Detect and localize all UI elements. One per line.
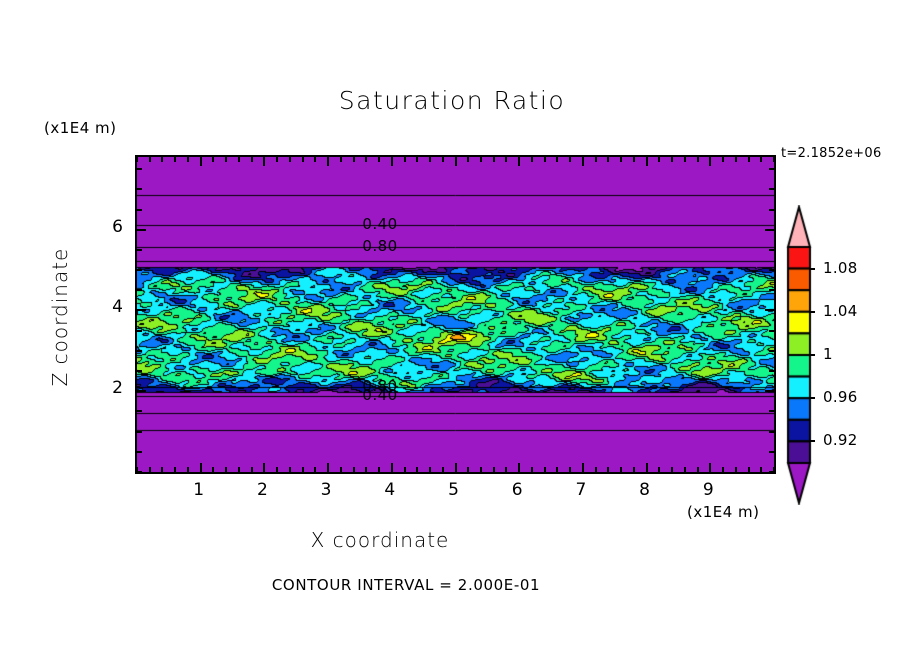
figure-canvas: Saturation Ratio (x1E4 m) (x1E4 m) t=2.1… xyxy=(0,0,904,654)
x-axis-minor-tick xyxy=(722,467,724,472)
x-axis-minor-tick xyxy=(773,157,775,162)
x-axis-minor-tick xyxy=(442,467,444,472)
x-axis-minor-tick xyxy=(365,157,367,162)
colorbar-tick-mark xyxy=(810,440,815,442)
y-axis-major-tick xyxy=(137,229,146,231)
x-axis-minor-tick xyxy=(442,157,444,162)
x-axis-minor-tick xyxy=(251,157,253,162)
y-axis-minor-tick xyxy=(137,168,142,170)
colorbar-tick-mark xyxy=(810,354,815,356)
x-axis-major-tick xyxy=(391,157,393,166)
x-axis-minor-tick xyxy=(429,157,431,162)
x-axis-minor-tick xyxy=(722,157,724,162)
x-axis-minor-tick xyxy=(276,467,278,472)
x-axis-major-tick xyxy=(327,463,329,472)
contour-value-label: 0.40 xyxy=(362,386,397,404)
page-title: Saturation Ratio xyxy=(0,86,904,115)
x-axis-minor-tick xyxy=(595,467,597,472)
x-axis-minor-tick xyxy=(302,157,304,162)
x-tick-label: 2 xyxy=(247,480,277,500)
x-axis-minor-tick xyxy=(212,157,214,162)
x-axis-minor-tick xyxy=(748,467,750,472)
y-axis-minor-tick xyxy=(769,471,774,473)
y-axis-minor-tick xyxy=(137,289,142,291)
x-axis-minor-tick xyxy=(251,467,253,472)
x-axis-minor-tick xyxy=(569,157,571,162)
x-tick-label: 4 xyxy=(375,480,405,500)
x-axis-major-tick xyxy=(518,157,520,166)
y-tick-label: 6 xyxy=(93,217,123,237)
x-axis-minor-tick xyxy=(735,157,737,162)
x-axis-minor-tick xyxy=(314,157,316,162)
x-axis-minor-tick xyxy=(353,157,355,162)
x-axis-major-tick xyxy=(518,463,520,472)
x-axis-title: X coordinate xyxy=(0,528,760,552)
x-tick-label: 1 xyxy=(184,480,214,500)
y-axis-title: Z coordinate xyxy=(48,227,72,407)
x-axis-minor-tick xyxy=(684,157,686,162)
x-axis-minor-tick xyxy=(187,157,189,162)
x-axis-minor-tick xyxy=(161,467,163,472)
x-axis-minor-tick xyxy=(633,157,635,162)
y-axis-major-tick xyxy=(765,390,774,392)
x-axis-minor-tick xyxy=(289,157,291,162)
x-axis-minor-tick xyxy=(314,467,316,472)
y-axis-minor-tick xyxy=(137,410,142,412)
x-axis-minor-tick xyxy=(480,467,482,472)
x-axis-minor-tick xyxy=(748,157,750,162)
y-axis-minor-tick xyxy=(769,350,774,352)
x-axis-minor-tick xyxy=(556,157,558,162)
x-axis-major-tick xyxy=(709,157,711,166)
x-axis-minor-tick xyxy=(760,467,762,472)
y-axis-minor-tick xyxy=(137,350,142,352)
x-axis-minor-tick xyxy=(607,157,609,162)
x-axis-minor-tick xyxy=(531,157,533,162)
colorbar-tick-label: 1 xyxy=(823,345,833,363)
x-tick-label: 3 xyxy=(311,480,341,500)
y-axis-minor-tick xyxy=(137,431,142,433)
contour-interval-label: CONTOUR INTERVAL = 2.000E-01 xyxy=(0,576,812,594)
x-axis-minor-tick xyxy=(174,467,176,472)
x-axis-minor-tick xyxy=(493,467,495,472)
x-axis-minor-tick xyxy=(404,157,406,162)
x-axis-minor-tick xyxy=(658,467,660,472)
x-axis-minor-tick xyxy=(735,467,737,472)
contour-value-label: 0.40 xyxy=(362,215,397,233)
x-axis-minor-tick xyxy=(302,467,304,472)
x-axis-major-tick xyxy=(455,463,457,472)
time-stamp-label: t=2.1852e+06 xyxy=(781,146,882,161)
y-axis-minor-tick xyxy=(769,431,774,433)
x-axis-minor-tick xyxy=(595,157,597,162)
x-axis-major-tick xyxy=(263,463,265,472)
x-axis-minor-tick xyxy=(340,467,342,472)
colorbar-tick-label: 1.04 xyxy=(823,302,858,320)
y-axis-minor-tick xyxy=(769,330,774,332)
y-axis-minor-tick xyxy=(137,188,142,190)
x-axis-minor-tick xyxy=(225,467,227,472)
x-tick-label: 7 xyxy=(566,480,596,500)
x-axis-minor-tick xyxy=(225,157,227,162)
x-axis-minor-tick xyxy=(544,467,546,472)
colorbar-tick-label: 0.96 xyxy=(823,388,858,406)
y-axis-major-tick xyxy=(137,309,146,311)
y-axis-minor-tick xyxy=(137,451,142,453)
x-axis-minor-tick xyxy=(607,467,609,472)
y-axis-minor-tick xyxy=(769,168,774,170)
x-axis-minor-tick xyxy=(467,467,469,472)
colorbar-tick-label: 1.08 xyxy=(823,259,858,277)
x-axis-minor-tick xyxy=(187,467,189,472)
x-axis-minor-tick xyxy=(289,467,291,472)
x-axis-minor-tick xyxy=(404,467,406,472)
x-axis-unit-label: (x1E4 m) xyxy=(687,503,760,521)
x-axis-minor-tick xyxy=(531,467,533,472)
y-axis-minor-tick xyxy=(769,289,774,291)
y-axis-minor-tick xyxy=(769,249,774,251)
y-axis-major-tick xyxy=(137,390,146,392)
plot-area: 0.400.800.800.40 xyxy=(135,155,776,474)
x-axis-minor-tick xyxy=(238,467,240,472)
x-axis-major-tick xyxy=(646,463,648,472)
x-axis-minor-tick xyxy=(174,157,176,162)
y-axis-minor-tick xyxy=(137,269,142,271)
x-axis-minor-tick xyxy=(467,157,469,162)
x-axis-minor-tick xyxy=(149,467,151,472)
y-axis-minor-tick xyxy=(769,451,774,453)
x-axis-minor-tick xyxy=(760,157,762,162)
y-axis-minor-tick xyxy=(769,188,774,190)
x-tick-label: 5 xyxy=(439,480,469,500)
x-axis-major-tick xyxy=(455,157,457,166)
x-axis-minor-tick xyxy=(671,467,673,472)
x-axis-minor-tick xyxy=(671,157,673,162)
x-axis-minor-tick xyxy=(378,157,380,162)
x-axis-major-tick xyxy=(200,463,202,472)
y-axis-major-tick xyxy=(765,309,774,311)
y-axis-minor-tick xyxy=(137,209,142,211)
x-axis-major-tick xyxy=(263,157,265,166)
y-axis-minor-tick xyxy=(137,330,142,332)
y-axis-minor-tick xyxy=(137,249,142,251)
x-axis-minor-tick xyxy=(416,157,418,162)
x-axis-minor-tick xyxy=(620,157,622,162)
x-axis-minor-tick xyxy=(569,467,571,472)
y-tick-label: 4 xyxy=(93,297,123,317)
x-axis-minor-tick xyxy=(378,467,380,472)
x-axis-major-tick xyxy=(646,157,648,166)
contour-field xyxy=(137,157,774,472)
x-axis-major-tick xyxy=(582,157,584,166)
y-tick-label: 2 xyxy=(93,378,123,398)
x-axis-minor-tick xyxy=(633,467,635,472)
x-axis-minor-tick xyxy=(416,467,418,472)
x-axis-minor-tick xyxy=(212,467,214,472)
y-axis-major-tick xyxy=(765,229,774,231)
x-tick-label: 9 xyxy=(693,480,723,500)
y-axis-minor-tick xyxy=(137,471,142,473)
x-axis-minor-tick xyxy=(238,157,240,162)
x-axis-minor-tick xyxy=(697,157,699,162)
colorbar-tick-mark xyxy=(810,311,815,313)
x-axis-minor-tick xyxy=(493,157,495,162)
x-axis-minor-tick xyxy=(505,157,507,162)
contour-value-label: 0.80 xyxy=(362,237,397,255)
x-tick-label: 8 xyxy=(630,480,660,500)
x-axis-minor-tick xyxy=(505,467,507,472)
x-axis-minor-tick xyxy=(480,157,482,162)
x-axis-minor-tick xyxy=(429,467,431,472)
y-axis-minor-tick xyxy=(769,370,774,372)
y-axis-unit-label: (x1E4 m) xyxy=(44,119,117,137)
x-axis-minor-tick xyxy=(276,157,278,162)
x-axis-major-tick xyxy=(582,463,584,472)
x-axis-minor-tick xyxy=(556,467,558,472)
x-axis-minor-tick xyxy=(340,157,342,162)
x-axis-minor-tick xyxy=(658,157,660,162)
x-axis-minor-tick xyxy=(353,467,355,472)
x-axis-major-tick xyxy=(327,157,329,166)
colorbar-tick-mark xyxy=(810,268,815,270)
x-axis-minor-tick xyxy=(365,467,367,472)
x-axis-major-tick xyxy=(200,157,202,166)
x-axis-minor-tick xyxy=(697,467,699,472)
y-axis-minor-tick xyxy=(769,269,774,271)
y-axis-minor-tick xyxy=(769,209,774,211)
x-axis-major-tick xyxy=(391,463,393,472)
x-axis-minor-tick xyxy=(684,467,686,472)
y-axis-minor-tick xyxy=(137,370,142,372)
x-axis-minor-tick xyxy=(544,157,546,162)
x-tick-label: 6 xyxy=(502,480,532,500)
x-axis-major-tick xyxy=(709,463,711,472)
x-axis-minor-tick xyxy=(149,157,151,162)
x-axis-minor-tick xyxy=(136,157,138,162)
y-axis-minor-tick xyxy=(769,410,774,412)
x-axis-minor-tick xyxy=(161,157,163,162)
colorbar-tick-mark xyxy=(810,397,815,399)
x-axis-minor-tick xyxy=(620,467,622,472)
colorbar-tick-label: 0.92 xyxy=(823,431,858,449)
